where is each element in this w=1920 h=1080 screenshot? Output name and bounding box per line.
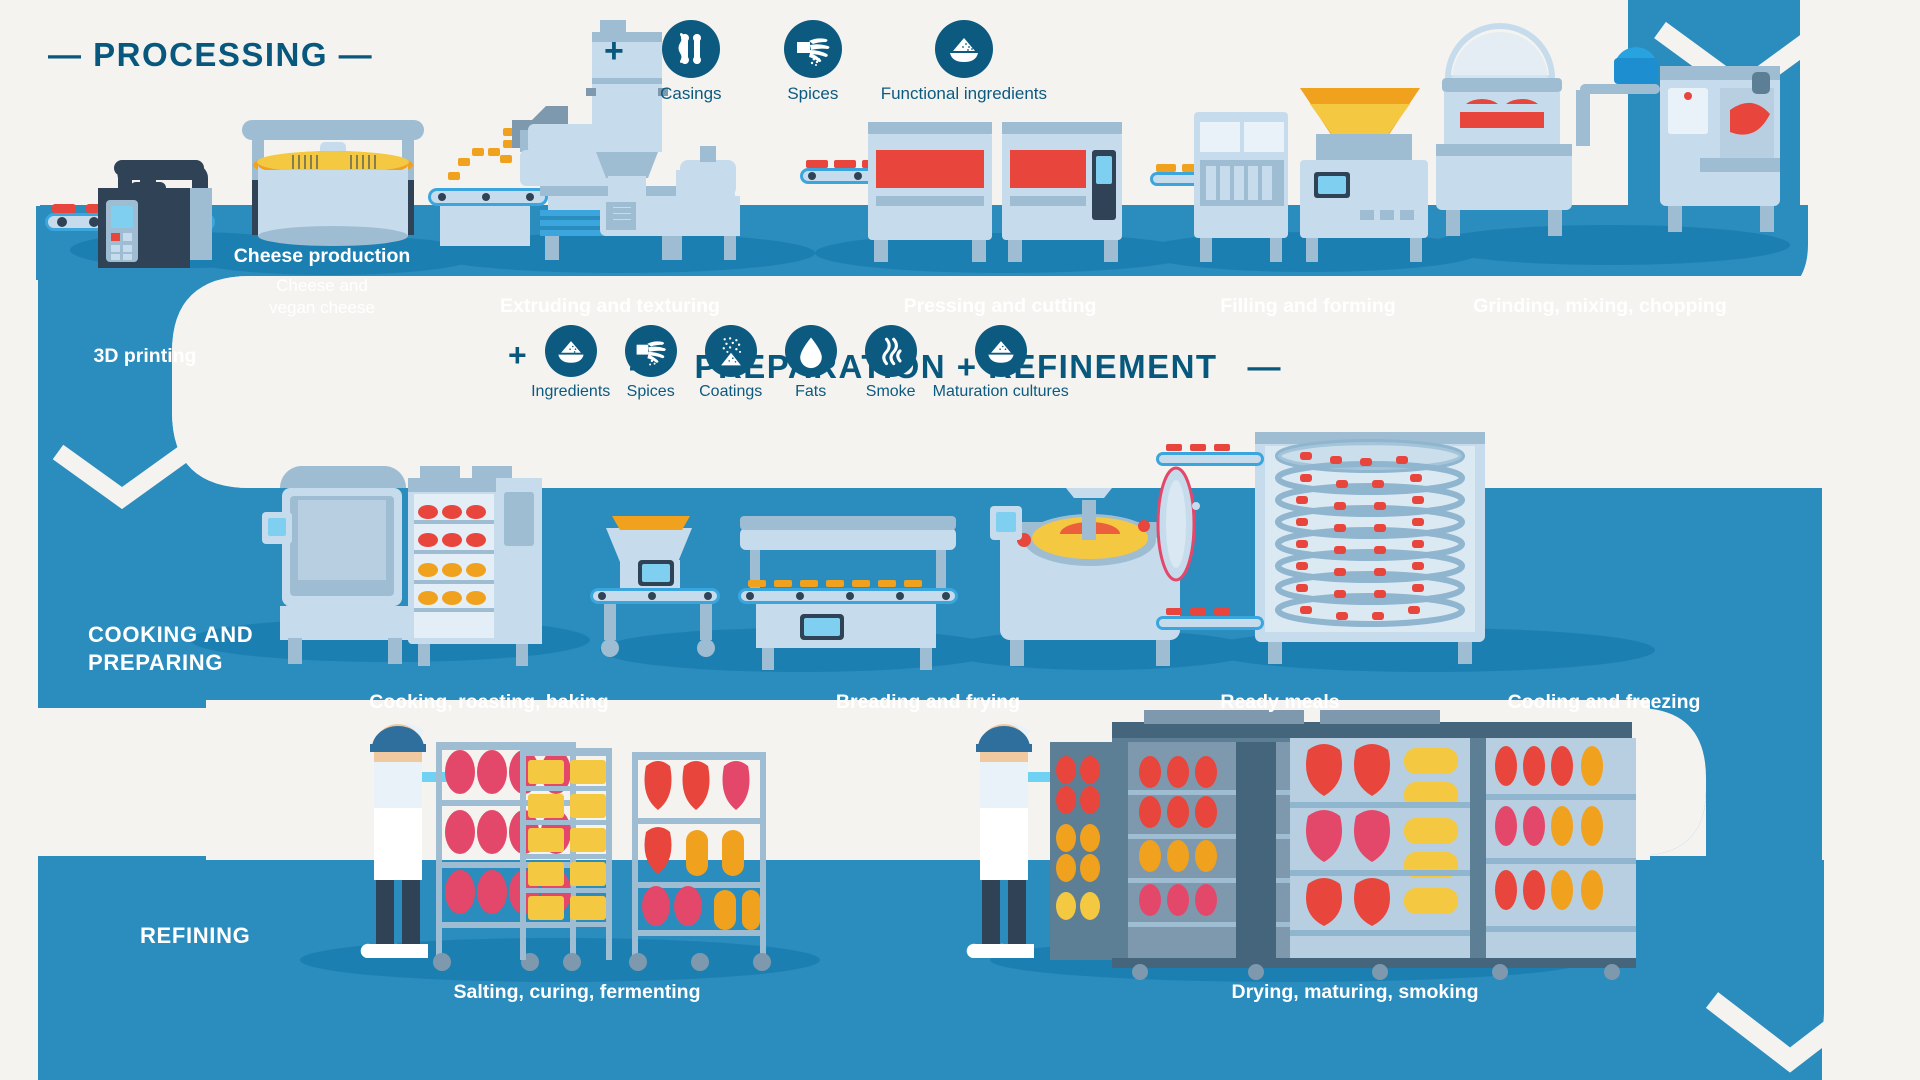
spices-hand-icon (625, 325, 677, 377)
additive-label: Fats (795, 383, 826, 401)
additive-label: Functional ingredients (881, 84, 1047, 104)
sub-line-2: vegan cheese (269, 297, 375, 319)
additive-label: Coatings (699, 383, 762, 401)
additive-spices[interactable]: Spices (752, 20, 874, 104)
section-label-refining: REFINING (140, 922, 250, 950)
additive-label: Casings (660, 84, 721, 104)
label-line-1: COOKING AND (88, 621, 253, 649)
bowl-powder-icon (975, 325, 1027, 377)
additive-maturation-cultures[interactable]: Maturation cultures (931, 325, 1071, 401)
spices-hand-icon (784, 20, 842, 78)
caption-cheese-production: Cheese production (234, 245, 411, 268)
infographic-canvas: — PROCESSING — — PREPARATION + REFINEMEN… (0, 0, 1920, 1080)
plus-sign: + (604, 34, 624, 68)
coatings-sprinkle-icon (705, 325, 757, 377)
caption-salting-curing-fermenting: Salting, curing, fermenting (453, 981, 700, 1004)
additive-smoke[interactable]: Smoke (851, 325, 931, 401)
smoke-icon (865, 325, 917, 377)
caption-3d-printing: 3D printing (94, 345, 197, 368)
caption-drying-maturing-smoking: Drying, maturing, smoking (1231, 981, 1478, 1004)
bowl-powder-icon (935, 20, 993, 78)
caption-breading-frying: Breading and frying (836, 691, 1020, 714)
title-dash-right: — (1248, 348, 1283, 386)
additive-casings[interactable]: Casings (630, 20, 752, 104)
bowl-powder-icon (545, 325, 597, 377)
additive-label: Spices (627, 383, 675, 401)
additive-label: Smoke (866, 383, 916, 401)
caption-grinding-mixing-chopping: Grinding, mixing, chopping (1473, 295, 1726, 318)
label-line-2: PREPARING (88, 649, 253, 677)
additive-label: Ingredients (531, 383, 610, 401)
additive-spices[interactable]: Spices (611, 325, 691, 401)
section-label-cooking-preparing: COOKING AND PREPARING (88, 621, 253, 676)
caption-pressing-cutting: Pressing and cutting (904, 295, 1097, 318)
sub-line-1: Cheese and (269, 275, 375, 297)
additive-functional-ingredients[interactable]: Functional ingredients (874, 20, 1054, 104)
additive-coatings[interactable]: Coatings (691, 325, 771, 401)
additive-label: Maturation cultures (933, 383, 1069, 401)
caption-ready-meals: Ready meals (1220, 691, 1339, 714)
ribbon-background (0, 0, 1920, 1080)
additives-row-preparation: + Ingredients (508, 325, 1071, 401)
caption-cheese-production-sub: Cheese and vegan cheese (269, 275, 375, 319)
additives-row-processing: + Casings (604, 20, 1054, 104)
additive-fats[interactable]: Fats (771, 325, 851, 401)
caption-filling-forming: Filling and forming (1220, 295, 1395, 318)
droplet-icon (785, 325, 837, 377)
caption-extruding-texturing: Extruding and texturing (500, 295, 720, 318)
caption-cooling-freezing: Cooling and freezing (1508, 691, 1701, 714)
additive-label: Spices (787, 84, 838, 104)
casings-icon (662, 20, 720, 78)
section-title-processing: — PROCESSING — (48, 36, 373, 74)
plus-sign: + (508, 339, 527, 371)
additive-ingredients[interactable]: Ingredients (531, 325, 611, 401)
caption-cooking-roasting-baking: Cooking, roasting, baking (369, 691, 608, 714)
